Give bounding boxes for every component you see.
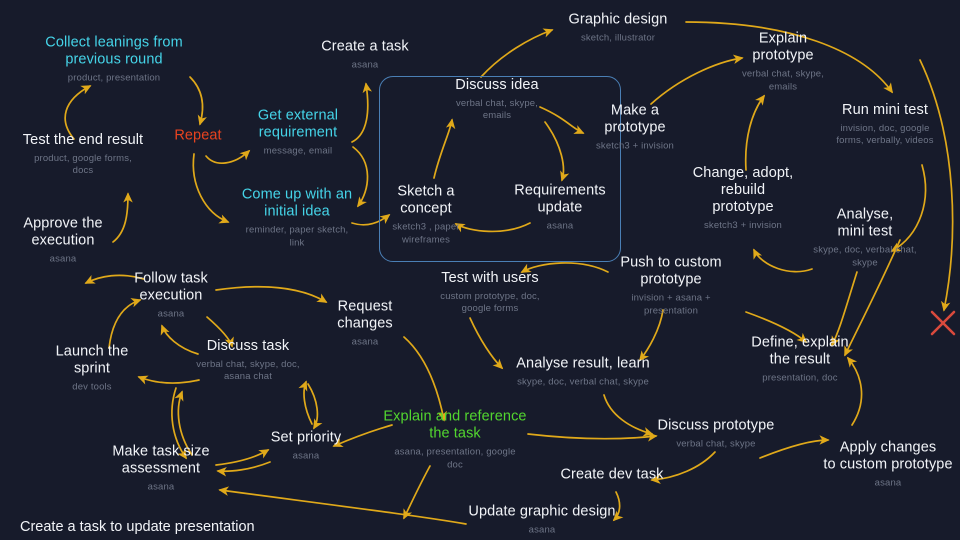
node-title-line: Explain and reference bbox=[383, 409, 526, 426]
node-title-make-prototype: Make aprototype bbox=[596, 103, 674, 137]
node-requirements-update[interactable]: Requirementsupdateasana bbox=[514, 183, 605, 234]
node-subtitle-sketch-concept: sketch3 , paperwireframes bbox=[392, 222, 459, 247]
arrow-a-discuss-graphic bbox=[481, 30, 552, 77]
node-subtitle-request-changes: asana bbox=[337, 337, 393, 349]
node-subtitle-discuss-idea: verbal chat, skype,emails bbox=[455, 98, 538, 123]
node-subtitle-line: asana bbox=[134, 309, 208, 321]
arrow-a-define-up bbox=[848, 358, 862, 425]
node-subtitle-line: skype, doc, verbal chat, skype bbox=[516, 376, 649, 388]
arrow-a-setp-discusstask bbox=[304, 382, 312, 424]
node-title-line: the task bbox=[383, 426, 526, 443]
node-title-line: sprint bbox=[56, 361, 129, 378]
node-title-line: Sketch a bbox=[392, 184, 459, 201]
node-subtitle-explain-reference: asana, presentation, googledoc bbox=[383, 447, 526, 472]
node-title-line: requirement bbox=[258, 125, 338, 142]
node-subtitle-come-up-idea: reminder, paper sketch,link bbox=[242, 225, 352, 250]
node-subtitle-line: asana bbox=[23, 254, 102, 266]
node-subtitle-line: sketch3 , paper bbox=[392, 222, 459, 234]
node-subtitle-launch-sprint: dev tools bbox=[56, 382, 129, 394]
arrow-a-update-maketask bbox=[220, 490, 466, 524]
arrow-a-approve-testend bbox=[113, 194, 128, 242]
node-title-line: prototype bbox=[693, 199, 794, 216]
node-title-line: Repeat bbox=[174, 127, 221, 144]
node-title-line: Apply changes bbox=[823, 440, 952, 457]
node-title-discuss-task: Discuss task bbox=[196, 338, 299, 355]
node-subtitle-line: dev tools bbox=[56, 382, 129, 394]
arrow-a-followtask-request bbox=[216, 287, 326, 302]
node-analyse-mini-test[interactable]: Analyse,mini testskype, doc, verbal chat… bbox=[813, 207, 916, 270]
node-title-create-a-task: Create a task bbox=[321, 38, 409, 55]
node-subtitle-line: invision + asana + bbox=[620, 293, 721, 305]
node-title-line: execution bbox=[23, 233, 102, 250]
node-make-prototype[interactable]: Make aprototypesketch3 + invision bbox=[596, 103, 674, 154]
node-analyse-result[interactable]: Analyse result, learnskype, doc, verbal … bbox=[516, 355, 649, 388]
node-subtitle-make-prototype: sketch3 + invision bbox=[596, 141, 674, 153]
node-subtitle-analyse-mini-test: skype, doc, verbal chat,skype bbox=[813, 245, 916, 270]
node-subtitle-graphic-design: sketch, illustrator bbox=[569, 32, 668, 44]
node-title-line: Update graphic design bbox=[468, 503, 615, 520]
node-title-line: Push to custom bbox=[620, 255, 721, 272]
node-title-discuss-idea: Discuss idea bbox=[455, 77, 538, 94]
node-title-line: Come up with an bbox=[242, 187, 352, 204]
arrow-a-discusstask-launch bbox=[139, 377, 199, 383]
node-subtitle-line: skype, doc, verbal chat, bbox=[813, 245, 916, 257]
node-title-line: Test the end result bbox=[23, 132, 143, 149]
arrow-a-push-analyseres bbox=[640, 310, 663, 360]
node-title-launch-sprint: Launch thesprint bbox=[56, 344, 129, 378]
node-subtitle-line: custom prototype, doc, bbox=[440, 291, 539, 303]
arrow-a-explainref-up bbox=[404, 466, 430, 518]
node-subtitle-set-priority: asana bbox=[271, 450, 342, 462]
node-subtitle-apply-changes: asana bbox=[823, 478, 952, 490]
node-subtitle-line: asana bbox=[321, 59, 409, 71]
node-title-line: Make task size bbox=[112, 444, 209, 461]
node-title-set-priority: Set priority bbox=[271, 429, 342, 446]
node-title-line: Requirements bbox=[514, 183, 605, 200]
node-repeat[interactable]: Repeat bbox=[174, 127, 221, 144]
arrow-a-repeat-getext bbox=[206, 151, 249, 163]
node-subtitle-make-task-size: asana bbox=[112, 482, 209, 494]
node-title-line: Test with users bbox=[440, 270, 539, 287]
node-subtitle-line: docs bbox=[23, 166, 143, 178]
node-create-dev-task[interactable]: Create dev task bbox=[560, 466, 663, 483]
node-title-follow-task-exec: Follow taskexecution bbox=[134, 271, 208, 305]
node-title-line: update bbox=[514, 200, 605, 217]
arrow-a-testusers-analyse bbox=[470, 318, 502, 368]
node-update-graphic[interactable]: Update graphic designasana bbox=[468, 503, 615, 536]
node-title-line: prototype bbox=[742, 48, 824, 65]
node-title-line: Change, adopt, bbox=[693, 165, 794, 182]
node-title-line: rebuild bbox=[693, 182, 794, 199]
node-title-line: prototype bbox=[596, 120, 674, 137]
node-title-explain-reference: Explain and referencethe task bbox=[383, 409, 526, 443]
node-run-mini-test[interactable]: Run mini testinvision, doc, googleforms,… bbox=[836, 102, 933, 148]
arrow-a-make-explain bbox=[651, 58, 742, 104]
node-come-up-idea[interactable]: Come up with aninitial ideareminder, pap… bbox=[242, 187, 352, 250]
node-subtitle-line: asana bbox=[823, 478, 952, 490]
node-title-line: changes bbox=[337, 316, 393, 333]
node-subtitle-explain-prototype: verbal chat, skype,emails bbox=[742, 69, 824, 94]
node-sketch-concept[interactable]: Sketch aconceptsketch3 , paperwireframes bbox=[392, 184, 459, 247]
arrow-a-setprio-maketask bbox=[218, 462, 270, 471]
node-subtitle-discuss-prototype: verbal chat, skype bbox=[658, 438, 775, 450]
node-subtitle-define-explain: presentation, doc bbox=[751, 373, 848, 385]
node-discuss-idea[interactable]: Discuss ideaverbal chat, skype,emails bbox=[455, 77, 538, 123]
node-subtitle-line: sketch3 + invision bbox=[596, 141, 674, 153]
arrow-a-testend-collect bbox=[65, 86, 90, 139]
node-test-with-users[interactable]: Test with userscustom prototype, doc,goo… bbox=[440, 270, 539, 316]
node-title-line: assessment bbox=[112, 461, 209, 478]
node-subtitle-line: emails bbox=[455, 111, 538, 123]
arrow-a-repeat-comeup bbox=[193, 154, 228, 222]
node-discuss-prototype[interactable]: Discuss prototypeverbal chat, skype bbox=[658, 417, 775, 450]
node-subtitle-line: asana chat bbox=[196, 372, 299, 384]
node-title-line: Define, explain bbox=[751, 335, 848, 352]
node-title-analyse-result: Analyse result, learn bbox=[516, 355, 649, 372]
node-explain-reference[interactable]: Explain and referencethe taskasana, pres… bbox=[383, 409, 526, 472]
node-title-line: execution bbox=[134, 288, 208, 305]
diagram-canvas: Collect leanings fromprevious roundprodu… bbox=[0, 0, 960, 540]
node-collect-leanings[interactable]: Collect leanings fromprevious roundprodu… bbox=[45, 35, 183, 86]
node-subtitle-create-a-task: asana bbox=[321, 59, 409, 71]
node-subtitle-line: google forms bbox=[440, 304, 539, 316]
node-title-graphic-design: Graphic design bbox=[569, 11, 668, 28]
node-title-line: Run mini test bbox=[836, 102, 933, 119]
arrow-a-analyseres-disc bbox=[604, 395, 652, 434]
red-x-mark bbox=[930, 310, 956, 336]
node-title-update-graphic: Update graphic design bbox=[468, 503, 615, 520]
node-define-explain[interactable]: Define, explainthe resultpresentation, d… bbox=[751, 335, 848, 386]
node-subtitle-line: product, google forms, bbox=[23, 153, 143, 165]
node-title-line: Analyse result, learn bbox=[516, 355, 649, 372]
arrow-a-request-explain bbox=[404, 337, 444, 420]
node-title-explain-prototype: Explainprototype bbox=[742, 31, 824, 65]
node-subtitle-line: forms, verbally, videos bbox=[836, 136, 933, 148]
arrow-a-right-loop-x bbox=[920, 60, 953, 310]
node-title-line: Set priority bbox=[271, 429, 342, 446]
node-subtitle-test-end-result: product, google forms,docs bbox=[23, 153, 143, 178]
node-title-requirements-update: Requirementsupdate bbox=[514, 183, 605, 217]
node-discuss-task[interactable]: Discuss taskverbal chat, skype, doc,asan… bbox=[196, 338, 299, 384]
node-apply-changes[interactable]: Apply changesto custom prototypeasana bbox=[823, 440, 952, 491]
node-subtitle-line: skype bbox=[813, 257, 916, 269]
node-explain-prototype[interactable]: Explainprototypeverbal chat, skype,email… bbox=[742, 31, 824, 94]
arrow-a-analyse-change bbox=[754, 250, 812, 272]
node-set-priority[interactable]: Set priorityasana bbox=[271, 429, 342, 462]
node-title-line: Follow task bbox=[134, 271, 208, 288]
node-title-line: initial idea bbox=[242, 204, 352, 221]
node-title-line: Discuss idea bbox=[455, 77, 538, 94]
node-title-line: Discuss prototype bbox=[658, 417, 775, 434]
node-subtitle-line: asana, presentation, google bbox=[383, 447, 526, 459]
node-title-approve-execution: Approve theexecution bbox=[23, 216, 102, 250]
node-subtitle-line: asana bbox=[271, 450, 342, 462]
node-title-line: mini test bbox=[813, 224, 916, 241]
node-subtitle-test-with-users: custom prototype, doc,google forms bbox=[440, 291, 539, 316]
node-title-line: Analyse, bbox=[813, 207, 916, 224]
node-subtitle-line: asana bbox=[468, 524, 615, 536]
arrow-a-change-explain bbox=[746, 96, 764, 170]
node-title-line: Get external bbox=[258, 108, 338, 125]
node-title-change-adopt: Change, adopt,rebuildprototype bbox=[693, 165, 794, 216]
node-title-line: prototype bbox=[620, 272, 721, 289]
arrow-a-maketask-setprio bbox=[216, 450, 268, 465]
node-subtitle-approve-execution: asana bbox=[23, 254, 102, 266]
node-subtitle-line: sketch3 + invision bbox=[693, 220, 794, 232]
node-subtitle-update-graphic: asana bbox=[468, 524, 615, 536]
arrow-a-getext-create bbox=[352, 84, 368, 142]
node-title-push-custom-proto: Push to customprototype bbox=[620, 255, 721, 289]
node-subtitle-discuss-task: verbal chat, skype, doc,asana chat bbox=[196, 359, 299, 384]
node-title-get-external-req: Get externalrequirement bbox=[258, 108, 338, 142]
node-subtitle-line: verbal chat, skype bbox=[658, 438, 775, 450]
node-subtitle-line: emails bbox=[742, 81, 824, 93]
node-subtitle-line: asana bbox=[337, 337, 393, 349]
node-subtitle-line: wireframes bbox=[392, 234, 459, 246]
node-title-line: Approve the bbox=[23, 216, 102, 233]
node-subtitle-line: presentation, doc bbox=[751, 373, 848, 385]
node-follow-task-exec[interactable]: Follow taskexecutionasana bbox=[134, 271, 208, 322]
node-title-collect-leanings: Collect leanings fromprevious round bbox=[45, 35, 183, 69]
node-approve-execution[interactable]: Approve theexecutionasana bbox=[23, 216, 102, 267]
node-subtitle-line: invision, doc, google bbox=[836, 123, 933, 135]
node-create-a-task[interactable]: Create a taskasana bbox=[321, 38, 409, 71]
node-subtitle-line: asana bbox=[514, 221, 605, 233]
node-title-line: concept bbox=[392, 201, 459, 218]
node-subtitle-line: product, presentation bbox=[45, 73, 183, 85]
node-title-line: Launch the bbox=[56, 344, 129, 361]
arrow-a-discusstask-setp bbox=[308, 384, 317, 428]
node-subtitle-follow-task-exec: asana bbox=[134, 309, 208, 321]
node-subtitle-line: verbal chat, skype, bbox=[742, 69, 824, 81]
node-make-task-size[interactable]: Make task sizeassessmentasana bbox=[112, 444, 209, 495]
node-title-repeat: Repeat bbox=[174, 127, 221, 144]
node-title-test-with-users: Test with users bbox=[440, 270, 539, 287]
node-subtitle-run-mini-test: invision, doc, googleforms, verbally, vi… bbox=[836, 123, 933, 148]
node-subtitle-change-adopt: sketch3 + invision bbox=[693, 220, 794, 232]
node-title-line: Discuss task bbox=[196, 338, 299, 355]
node-title-request-changes: Requestchanges bbox=[337, 299, 393, 333]
arrow-a-discusstask-follow bbox=[162, 326, 198, 354]
node-title-run-mini-test: Run mini test bbox=[836, 102, 933, 119]
node-subtitle-get-external-req: message, email bbox=[258, 146, 338, 158]
node-title-line: Explain bbox=[742, 31, 824, 48]
node-subtitle-line: asana bbox=[112, 482, 209, 494]
node-subtitle-push-custom-proto: invision + asana +presentation bbox=[620, 293, 721, 318]
node-title-line: Collect leanings from bbox=[45, 35, 183, 52]
arrow-a-explain-discussp bbox=[528, 434, 656, 439]
node-title-test-end-result: Test the end result bbox=[23, 132, 143, 149]
node-subtitle-requirements-update: asana bbox=[514, 221, 605, 233]
node-change-adopt[interactable]: Change, adopt,rebuildprototypesketch3 + … bbox=[693, 165, 794, 233]
diagram-caption: Create a task to update presentation bbox=[20, 519, 255, 535]
node-title-line: Graphic design bbox=[569, 11, 668, 28]
node-title-make-task-size: Make task sizeassessment bbox=[112, 444, 209, 478]
node-title-line: Make a bbox=[596, 103, 674, 120]
node-subtitle-line: link bbox=[242, 237, 352, 249]
node-subtitle-line: sketch, illustrator bbox=[569, 32, 668, 44]
node-subtitle-line: message, email bbox=[258, 146, 338, 158]
node-title-discuss-prototype: Discuss prototype bbox=[658, 417, 775, 434]
node-title-line: Request bbox=[337, 299, 393, 316]
node-title-apply-changes: Apply changesto custom prototype bbox=[823, 440, 952, 474]
node-subtitle-line: presentation bbox=[620, 305, 721, 317]
node-subtitle-line: reminder, paper sketch, bbox=[242, 225, 352, 237]
node-subtitle-line: verbal chat, skype, bbox=[455, 98, 538, 110]
node-title-sketch-concept: Sketch aconcept bbox=[392, 184, 459, 218]
arrow-a-collect-repeat bbox=[190, 77, 203, 124]
node-title-line: the result bbox=[751, 352, 848, 369]
node-launch-sprint[interactable]: Launch thesprintdev tools bbox=[56, 344, 129, 395]
node-get-external-req[interactable]: Get externalrequirementmessage, email bbox=[258, 108, 338, 159]
node-title-line: previous round bbox=[45, 52, 183, 69]
node-title-line: Create a task bbox=[321, 38, 409, 55]
node-title-line: Create dev task bbox=[560, 466, 663, 483]
node-subtitle-collect-leanings: product, presentation bbox=[45, 73, 183, 85]
node-title-create-dev-task: Create dev task bbox=[560, 466, 663, 483]
node-test-end-result[interactable]: Test the end resultproduct, google forms… bbox=[23, 132, 143, 178]
arrow-a-getext-sketch bbox=[353, 147, 368, 206]
node-push-custom-proto[interactable]: Push to customprototypeinvision + asana … bbox=[620, 255, 721, 318]
node-subtitle-line: verbal chat, skype, doc, bbox=[196, 359, 299, 371]
node-graphic-design[interactable]: Graphic designsketch, illustrator bbox=[569, 11, 668, 44]
node-title-come-up-idea: Come up with aninitial idea bbox=[242, 187, 352, 221]
node-title-define-explain: Define, explainthe result bbox=[751, 335, 848, 369]
node-request-changes[interactable]: Requestchangesasana bbox=[337, 299, 393, 350]
node-subtitle-line: doc bbox=[383, 459, 526, 471]
node-title-analyse-mini-test: Analyse,mini test bbox=[813, 207, 916, 241]
node-subtitle-analyse-result: skype, doc, verbal chat, skype bbox=[516, 376, 649, 388]
node-title-line: to custom prototype bbox=[823, 457, 952, 474]
